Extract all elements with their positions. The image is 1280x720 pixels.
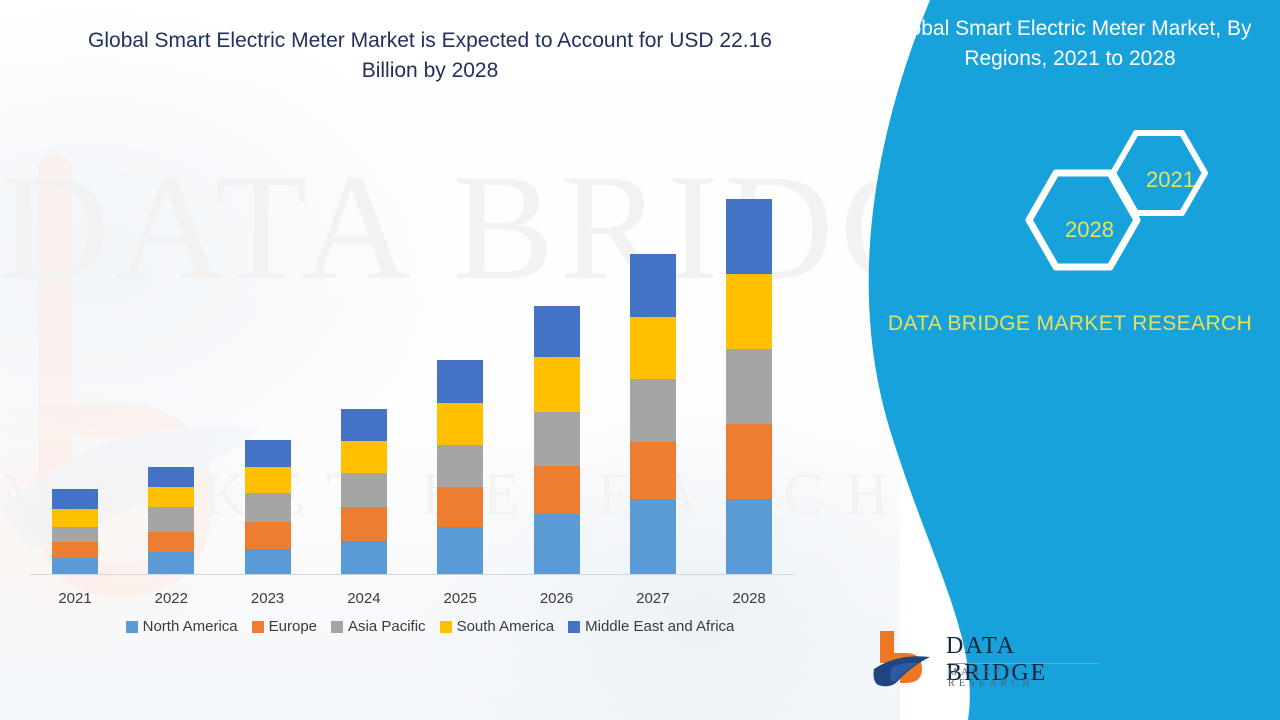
hexagon-start-year: 2021 [1146,167,1195,193]
bar-segment-north-america-2025[interactable] [437,527,483,574]
logo-divider [948,663,1100,664]
chart-legend: North AmericaEuropeAsia PacificSouth Ame… [0,618,860,635]
bar-segment-middle-east-and-africa-2022[interactable] [148,467,194,487]
x-axis-label-2027: 2027 [608,590,698,607]
infographic-root: DATA BRIDGE MARKET RESEARCH Global Smart… [0,0,1280,720]
bar-segment-south-america-2023[interactable] [245,467,291,493]
logo-mark-icon [872,627,938,691]
bar-segment-middle-east-and-africa-2028[interactable] [726,199,772,274]
bar-segment-asia-pacific-2021[interactable] [52,527,98,542]
bar-segment-asia-pacific-2024[interactable] [341,473,387,507]
hexagon-end-year: 2028 [1065,217,1114,243]
branding-panel: Global Smart Electric Meter Market, By R… [860,0,1280,720]
legend-item-south-america[interactable]: South America [440,618,555,635]
hexagon-shapes-icon [960,125,1260,300]
bar-segment-north-america-2022[interactable] [148,552,194,574]
legend-item-asia-pacific[interactable]: Asia Pacific [331,618,426,635]
bar-2023[interactable] [245,440,291,574]
legend-item-middle-east-and-africa[interactable]: Middle East and Africa [568,618,734,635]
bar-segment-europe-2023[interactable] [245,522,291,549]
bar-segment-asia-pacific-2026[interactable] [534,412,580,466]
x-axis-label-2024: 2024 [319,590,409,607]
legend-swatch-icon [252,621,264,633]
legend-swatch-icon [568,621,580,633]
bar-segment-south-america-2025[interactable] [437,403,483,445]
panel-curve-shape [860,0,1280,720]
x-axis-label-2026: 2026 [512,590,602,607]
bar-2024[interactable] [341,409,387,574]
legend-label: South America [457,618,555,635]
bar-2027[interactable] [630,254,676,574]
bar-segment-north-america-2023[interactable] [245,549,291,574]
x-axis-label-2023: 2023 [223,590,313,607]
bar-segment-asia-pacific-2027[interactable] [630,379,676,442]
legend-item-europe[interactable]: Europe [252,618,317,635]
legend-label: Middle East and Africa [585,618,734,635]
x-axis-line [30,574,795,575]
legend-swatch-icon [331,621,343,633]
bar-segment-north-america-2024[interactable] [341,541,387,574]
legend-item-north-america[interactable]: North America [126,618,238,635]
legend-swatch-icon [440,621,452,633]
bar-segment-middle-east-and-africa-2024[interactable] [341,409,387,441]
legend-swatch-icon [126,621,138,633]
bar-segment-middle-east-and-africa-2027[interactable] [630,254,676,317]
bar-segment-asia-pacific-2023[interactable] [245,493,291,522]
bar-segment-south-america-2024[interactable] [341,441,387,473]
year-hexagons: 2021 2028 [960,125,1260,300]
bar-segment-middle-east-and-africa-2021[interactable] [52,489,98,509]
bar-segment-middle-east-and-africa-2026[interactable] [534,306,580,357]
legend-label: North America [143,618,238,635]
x-axis-label-2021: 2021 [30,590,120,607]
bar-segment-europe-2026[interactable] [534,466,580,514]
bar-segment-south-america-2026[interactable] [534,357,580,412]
bar-segment-asia-pacific-2028[interactable] [726,349,772,424]
x-axis-label-2025: 2025 [415,590,505,607]
company-logo: DATA BRIDGE MARKET RESEARCH [872,625,1102,693]
bar-segment-south-america-2022[interactable] [148,487,194,507]
chart-panel: DATA BRIDGE MARKET RESEARCH Global Smart… [0,0,900,720]
bar-segment-europe-2022[interactable] [148,532,194,552]
bar-segment-middle-east-and-africa-2025[interactable] [437,360,483,403]
legend-label: Europe [269,618,317,635]
bar-segment-south-america-2021[interactable] [52,509,98,527]
bar-segment-north-america-2021[interactable] [52,558,98,574]
brand-name: DATA BRIDGE MARKET RESEARCH [880,308,1260,340]
bar-segment-europe-2027[interactable] [630,442,676,499]
bar-2028[interactable] [726,199,772,574]
x-axis-label-2028: 2028 [704,590,794,607]
plot-area: 20212022202320242025202620272028 [0,0,900,720]
bar-2026[interactable] [534,306,580,574]
x-axis-label-2022: 2022 [126,590,216,607]
bar-2025[interactable] [437,360,483,574]
legend-label: Asia Pacific [348,618,426,635]
bar-segment-middle-east-and-africa-2023[interactable] [245,440,291,467]
bar-segment-south-america-2028[interactable] [726,274,772,349]
bar-2022[interactable] [148,467,194,574]
bar-segment-north-america-2027[interactable] [630,499,676,574]
bar-segment-asia-pacific-2025[interactable] [437,445,483,487]
logo-tagline: MARKET RESEARCH [948,667,1102,689]
bar-segment-europe-2025[interactable] [437,487,483,527]
bar-segment-north-america-2028[interactable] [726,499,772,574]
panel-title: Global Smart Electric Meter Market, By R… [870,14,1270,74]
bar-segment-south-america-2027[interactable] [630,317,676,379]
bar-2021[interactable] [52,489,98,574]
bar-segment-north-america-2026[interactable] [534,514,580,574]
bar-segment-europe-2021[interactable] [52,542,98,558]
bar-segment-europe-2028[interactable] [726,424,772,499]
bar-segment-asia-pacific-2022[interactable] [148,507,194,532]
bar-segment-europe-2024[interactable] [341,507,387,541]
